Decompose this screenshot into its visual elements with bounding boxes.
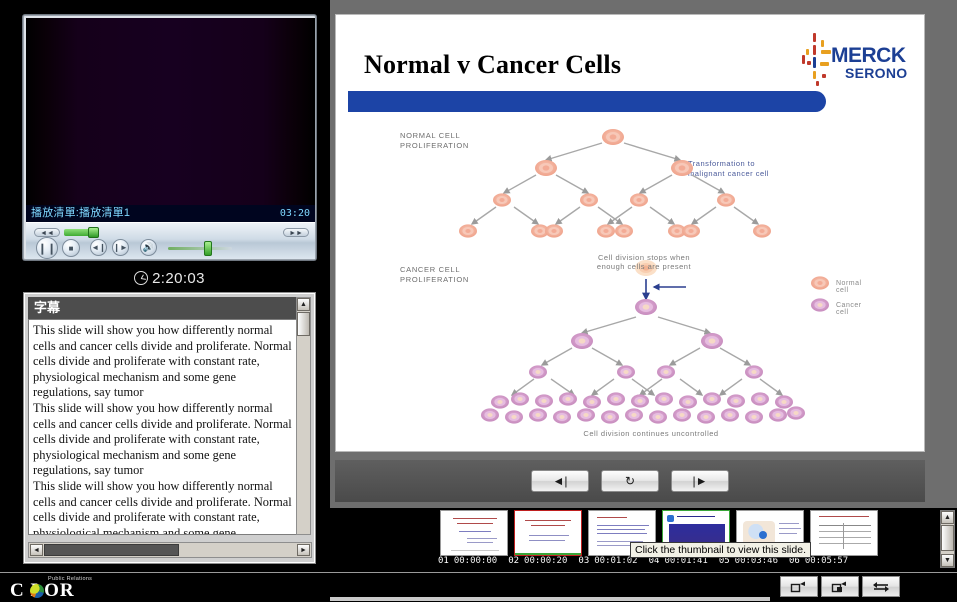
left-panel: 播放清單:播放清單1 03:20 ◄◄ ►► ❙❙ ■ ◄❙ [0,0,330,572]
previous-slide-icon: ◄| [553,474,568,488]
timecode-cell: 01 00:00:00 [438,556,497,566]
next-track-button[interactable]: ❙► [112,239,129,256]
cancer-caption: Cell division continues uncontrolled [546,429,756,439]
slide-time: 00:00:00 [454,556,497,566]
video-controls: ◄◄ ►► ❙❙ ■ ◄❙ ❙► 🔊 [26,222,315,259]
slide-title: Normal v Cancer Cells [364,50,621,80]
color-brand-logo: Public Relations C LOR [8,576,123,598]
subtitle-block: This slide will show you how differently… [33,401,292,479]
video-status-bar: 播放清單:播放清單1 03:20 [26,205,315,222]
subtitle-scroll-thumb[interactable] [297,312,310,336]
next-icon: ❙► [113,243,128,252]
thumbnail-slide-01[interactable] [440,510,508,556]
replay-slide-button[interactable]: ↻ [601,470,659,492]
next-slide-button[interactable]: |► [671,470,729,492]
slide-index: 03 [578,556,589,566]
subtitle-vertical-scrollbar[interactable]: ▲ [296,297,311,535]
seek-handle[interactable] [88,227,99,238]
filmstrip-scroll-thumb[interactable] [941,525,954,551]
speaker-icon: 🔊 [143,242,154,253]
mute-button[interactable]: 🔊 [140,239,157,256]
thumbnail-slide-02[interactable] [514,510,582,556]
thumbnail-slide-06[interactable] [810,510,878,556]
slide-navigation-bar: ◄| ↻ |► [335,460,925,502]
video-player[interactable]: 播放清單:播放清單1 03:20 ◄◄ ►► ❙❙ ■ ◄❙ [23,15,316,260]
merck-wordmark: MERCK [831,45,906,66]
subtitle-block: This slide will show you how differently… [33,479,292,535]
window-restore-icon [790,580,808,594]
subtitle-panel: 字幕 This slide will show you how differen… [23,292,316,564]
video-duration: 03:20 [280,205,310,222]
stop-button[interactable]: ■ [62,239,80,257]
timecode-cell: 03 00:01:02 [578,556,637,566]
thumbnail-filmstrip: Click the thumbnail to view this slide. … [330,508,957,572]
subtitle-text-area[interactable]: This slide will show you how differently… [28,319,297,535]
merck-serono-logo: MERCK SERONO [801,31,906,87]
slide-canvas[interactable]: Normal v Cancer Cells MERCK SERONO NOR [335,14,925,452]
rewind-icon: ◄◄ [35,230,59,237]
filmstrip-scroll-up-button[interactable]: ▲ [941,511,954,524]
slide-time: 00:05:57 [805,556,848,566]
diagram-graphics [396,127,866,442]
slide-index: 01 [438,556,449,566]
subtitle-horizontal-scrollbar[interactable]: ◄ ► [28,542,312,558]
video-surface[interactable] [26,18,315,205]
playlist-label: 播放清單:播放清單1 [31,205,130,222]
bottom-progress-track[interactable] [330,597,770,601]
scroll-up-button[interactable]: ▲ [297,298,310,311]
subtitle-block: This slide will show you how differently… [33,323,292,401]
replay-icon: ↻ [625,474,635,488]
subtitle-panel-title: 字幕 [28,297,297,319]
filmstrip-scrollbar[interactable]: ▲ ▼ [940,510,955,568]
bottom-status-bar: Public Relations C LOR [0,572,957,600]
brand-orb-icon [30,584,44,598]
slide-index: 02 [508,556,519,566]
next-slide-icon: |► [693,474,708,488]
cell-proliferation-diagram: NORMAL CELL PROLIFERATION CANCER CELL PR… [396,127,866,442]
clock-icon [134,271,148,285]
bottom-tool-buttons [780,576,900,597]
elapsed-time: 2:20:03 [152,270,205,287]
volume-slider[interactable] [168,247,232,250]
legend-label-normal: Normal cell [836,280,866,294]
seek-bar[interactable]: ◄◄ ►► [34,228,309,237]
previous-slide-button[interactable]: ◄| [531,470,589,492]
scroll-right-button[interactable]: ► [297,544,310,556]
fastforward-button[interactable]: ►► [283,228,309,237]
window-restore-button[interactable] [780,576,818,597]
filmstrip-scroll-down-button[interactable]: ▼ [941,554,954,567]
rewind-button[interactable]: ◄◄ [34,228,60,237]
window-dock-button[interactable] [821,576,859,597]
slide-title-rule [348,91,826,112]
scroll-left-button[interactable]: ◄ [30,544,43,556]
subtitle-hscroll-thumb[interactable] [44,544,179,556]
serono-wordmark: SERONO [845,66,907,80]
swap-arrows-icon [871,580,891,594]
fastforward-icon: ►► [284,230,308,237]
swap-panes-button[interactable] [862,576,900,597]
volume-handle[interactable] [204,241,212,256]
pause-icon: ❙❙ [38,242,56,255]
previous-icon: ◄❙ [91,243,106,252]
normal-caption-line2: enough cells are present [564,262,724,272]
pause-button[interactable]: ❙❙ [36,237,58,259]
merck-marks [801,31,835,87]
stop-icon: ■ [69,244,74,253]
elapsed-time-row: 2:20:03 [23,266,316,290]
slide-stage: Normal v Cancer Cells MERCK SERONO NOR [330,0,957,572]
slide-time: 00:00:20 [524,556,567,566]
thumbnail-tooltip: Click the thumbnail to view this slide. [630,542,811,558]
timecode-cell: 02 00:00:20 [508,556,567,566]
previous-track-button[interactable]: ◄❙ [90,239,107,256]
legend-label-cancer: Cancer cell [836,302,866,316]
window-dock-icon [831,580,849,594]
